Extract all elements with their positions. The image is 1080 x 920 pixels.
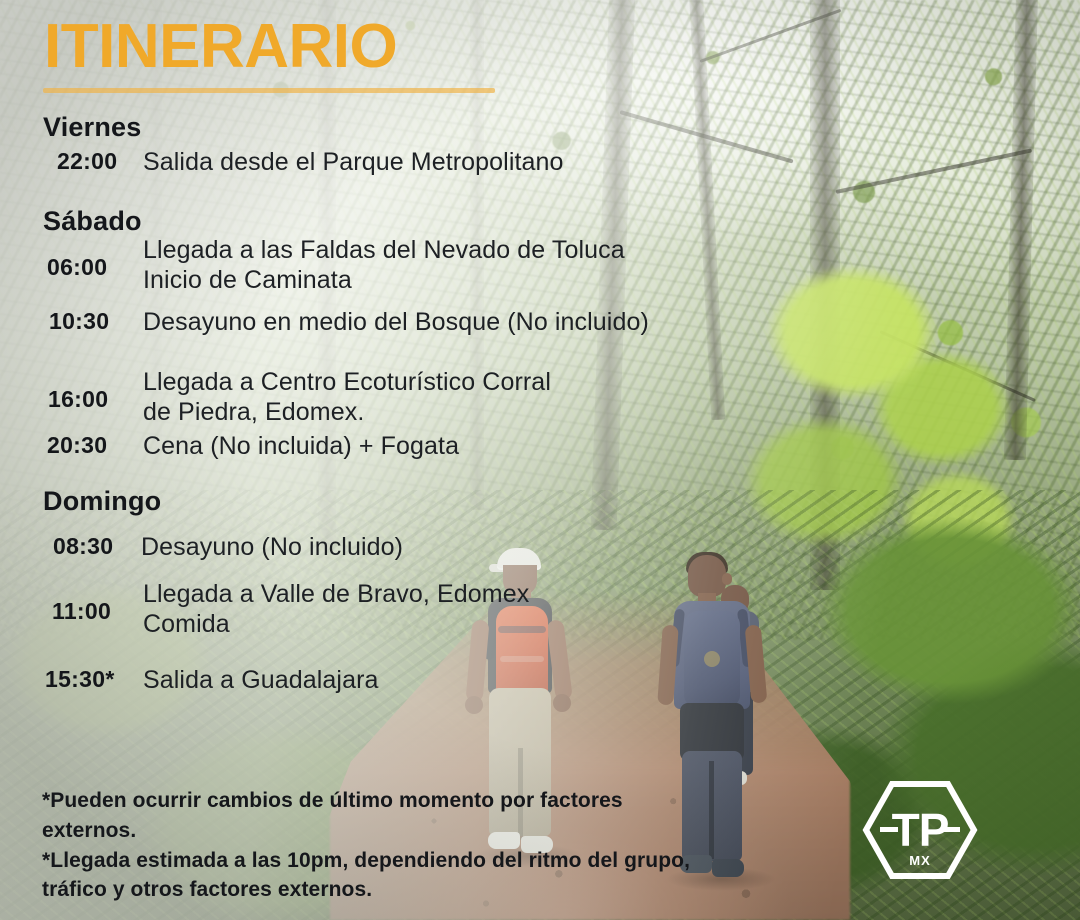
- footnotes: *Pueden ocurrir cambios de último moment…: [42, 786, 702, 905]
- row-time: 16:00: [48, 386, 152, 413]
- page-title: ITINERARIO: [44, 16, 397, 78]
- row-time: 06:00: [47, 254, 151, 281]
- logo-hexagon-badge: TP MX: [862, 770, 978, 890]
- row-description: Llegada a las Faldas del Nevado de Toluc…: [143, 236, 683, 295]
- row-description: Salida a Guadalajara: [143, 666, 683, 696]
- logo-sub-text: MX: [909, 853, 931, 868]
- row-time: 10:30: [49, 308, 153, 335]
- row-description: Llegada a Centro Ecoturístico Corral de …: [143, 368, 683, 427]
- day-heading-sabado: Sábado: [43, 206, 142, 237]
- footnote-line: *Llegada estimada a las 10pm, dependiend…: [42, 846, 702, 876]
- day-heading-domingo: Domingo: [43, 486, 161, 517]
- row-description-line: Llegada a Valle de Bravo, Edomex: [143, 580, 683, 610]
- itinerary-content: ITINERARIO Viernes 22:00 Salida desde el…: [0, 0, 1080, 920]
- footnote-line: externos.: [42, 816, 702, 846]
- row-time: 11:00: [52, 598, 156, 625]
- logo-mark-text: TP: [892, 804, 949, 856]
- tp-mx-logo: TP MX: [862, 770, 978, 890]
- footnote-line: *Pueden ocurrir cambios de último moment…: [42, 786, 702, 816]
- row-description-line: de Piedra, Edomex.: [143, 398, 683, 428]
- title-divider: [43, 88, 495, 93]
- row-description: Desayuno (No incluido): [141, 533, 681, 563]
- day-heading-viernes: Viernes: [43, 112, 141, 143]
- footnote-line: tráfico y otros factores externos.: [42, 875, 702, 905]
- itinerary-poster: ITINERARIO Viernes 22:00 Salida desde el…: [0, 0, 1080, 920]
- row-description-line: Inicio de Caminata: [143, 266, 683, 296]
- row-description-line: Llegada a las Faldas del Nevado de Toluc…: [143, 236, 683, 266]
- row-description: Desayuno en medio del Bosque (No incluid…: [143, 308, 683, 338]
- row-time: 15:30*: [45, 666, 149, 693]
- row-time: 20:30: [47, 432, 151, 459]
- row-description-line: Llegada a Centro Ecoturístico Corral: [143, 368, 683, 398]
- row-description: Llegada a Valle de Bravo, Edomex Comida: [143, 580, 683, 639]
- row-description: Cena (No incluida) + Fogata: [143, 432, 683, 462]
- row-description: Salida desde el Parque Metropolitano: [143, 148, 683, 178]
- row-description-line: Comida: [143, 610, 683, 640]
